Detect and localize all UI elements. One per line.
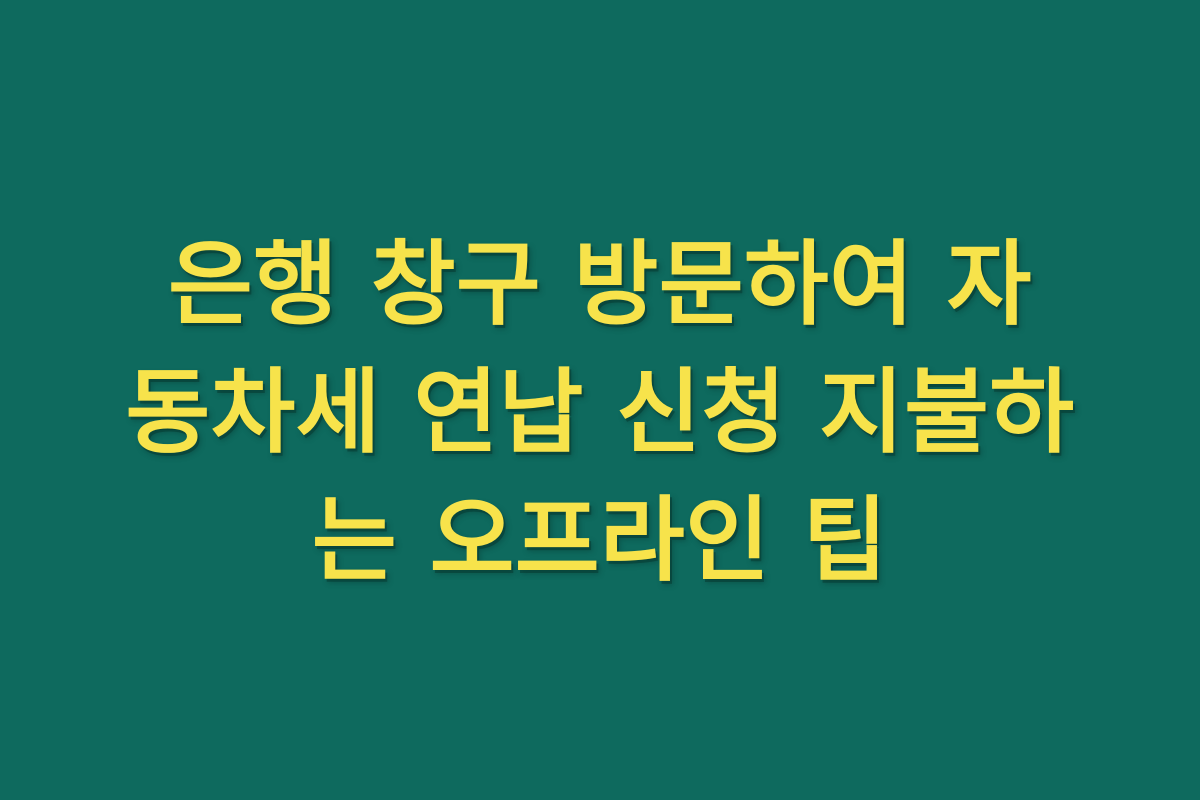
headline-text: 은행 창구 방문하여 자 동차세 연납 신청 지불하 는 오프라인 팁 [50, 221, 1150, 605]
banner-canvas: 은행 창구 방문하여 자 동차세 연납 신청 지불하 는 오프라인 팁 [0, 0, 1200, 800]
